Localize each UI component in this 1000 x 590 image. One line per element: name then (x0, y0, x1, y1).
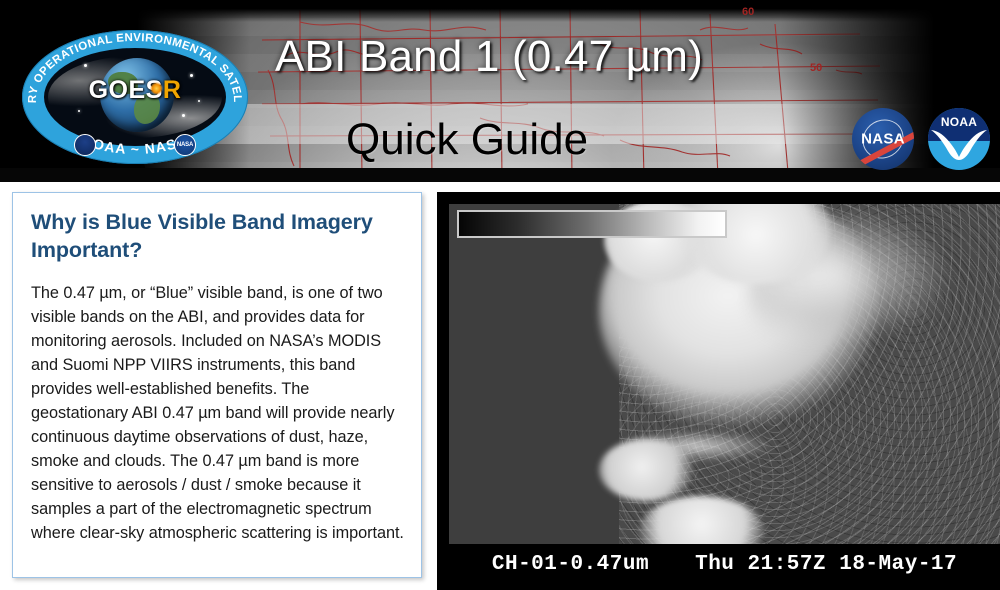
agency-logo-group: NASA NOAA (852, 108, 990, 170)
satellite-ocean-region (449, 204, 629, 544)
cloud-lobe-lower-left (599, 439, 694, 501)
page-subtitle: Quick Guide (346, 118, 588, 162)
goes-r-spark-icon (150, 82, 163, 95)
info-panel: Why is Blue Visible Band Imagery Importa… (12, 192, 422, 578)
latitude-label-50: 50 (810, 62, 822, 74)
page-title: ABI Band 1 (0.47 µm) (275, 32, 703, 82)
nasa-logo: NASA (852, 108, 914, 170)
caption-timestamp-label: Thu 21:57Z 18-May-17 (695, 553, 957, 576)
noaa-logo-label: NOAA (928, 115, 990, 129)
noaa-logo: NOAA (928, 108, 990, 170)
goes-r-noaa-seal-icon (74, 134, 96, 156)
satellite-image-caption: CH-01-0.47um Thu 21:57Z 18-May-17 (449, 544, 1000, 584)
goes-r-logo: GOESR GEOSTATIONARY OPERATIONAL ENVIRONM… (22, 22, 248, 172)
grayscale-colorbar (457, 210, 727, 238)
quick-guide-page: 60 50 40 GOESR (0, 0, 1000, 590)
goes-r-wordmark: GOESR (60, 78, 210, 103)
latitude-label-60: 60 (742, 6, 754, 18)
info-panel-heading: Why is Blue Visible Band Imagery Importa… (31, 209, 405, 264)
satellite-image-figure: CH-01-0.47um Thu 21:57Z 18-May-17 (437, 192, 1000, 590)
header-banner: 60 50 40 GOESR (0, 0, 1000, 182)
nasa-logo-label: NASA (852, 131, 914, 148)
goes-r-word-r: R (163, 76, 182, 104)
satellite-image-scene (449, 204, 1000, 544)
noaa-seagull-icon (931, 130, 987, 160)
info-panel-body: The 0.47 µm, or “Blue” visible band, is … (31, 282, 405, 545)
goes-r-nasa-seal-icon: NASA (174, 134, 196, 156)
goes-r-nasa-seal-label: NASA (175, 135, 195, 155)
caption-channel-label: CH-01-0.47um (492, 553, 649, 576)
